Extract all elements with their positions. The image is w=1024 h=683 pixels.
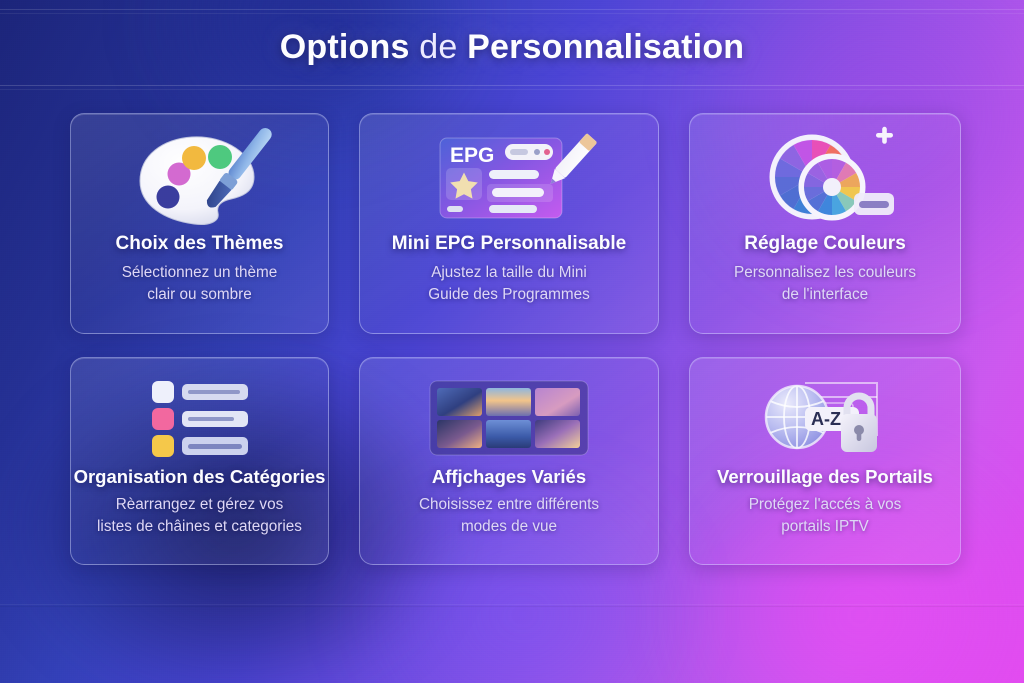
header: Options de Personnalisation xyxy=(0,0,1024,95)
card-title: Choix des Thèmes xyxy=(116,233,284,255)
feature-card-grid: Choix des Thèmes Sélectionnez un thème c… xyxy=(70,113,959,565)
palette-dot-amber xyxy=(182,146,206,170)
page-title: Options de Personnalisation xyxy=(280,28,745,67)
card-subtitle-line: modes de vue xyxy=(419,516,599,538)
card-title: Mini EPG Personnalisable xyxy=(392,233,626,255)
page-title-part-2: de xyxy=(419,28,457,66)
epg-card-pencil-icon: EPG xyxy=(372,127,646,231)
category-swatch-yellow xyxy=(152,435,174,457)
feature-card-portal-lock[interactable]: A-Z Verrouillage des Portails Protégez l… xyxy=(689,357,961,565)
card-subtitle-line: Guide des Programmes xyxy=(428,284,590,306)
lock-icon xyxy=(841,396,877,452)
palette-dot-green xyxy=(208,145,232,169)
feature-card-categories[interactable]: Organisation des Catégories Rèarrangez e… xyxy=(70,357,329,565)
card-subtitle-line: Ajustez la taille du Mini xyxy=(428,262,590,284)
card-subtitle: Choisissez entre différents modes de vue xyxy=(419,494,599,537)
category-swatch-pink xyxy=(152,408,174,430)
card-title: Réglage Couleurs xyxy=(744,233,906,255)
color-slider xyxy=(854,193,894,215)
card-subtitle: Personnalisez les couleurs de l'interfac… xyxy=(734,262,916,305)
card-subtitle: Rèarrangez et gérez vos listes de châine… xyxy=(97,494,302,537)
card-subtitle-line: Personnalisez les couleurs xyxy=(734,262,916,284)
card-title: Organisation des Catégories xyxy=(74,466,326,487)
category-swatch-white xyxy=(152,381,174,403)
feature-card-mini-epg[interactable]: EPG xyxy=(359,113,659,334)
card-subtitle-line: Choisissez entre différents xyxy=(419,494,599,516)
plus-icon xyxy=(876,127,893,144)
card-subtitle: Sélectionnez un thème clair ou sombre xyxy=(122,262,278,305)
palette-dot-navy xyxy=(156,186,179,209)
card-subtitle-line: listes de châines et categories xyxy=(97,516,302,538)
card-subtitle-line: clair ou sombre xyxy=(122,284,278,306)
card-title: Affjchages Variés xyxy=(432,466,586,487)
feature-card-themes[interactable]: Choix des Thèmes Sélectionnez un thème c… xyxy=(70,113,329,334)
card-title: Verrouillage des Portails xyxy=(717,466,933,487)
card-subtitle: Ajustez la taille du Mini Guide des Prog… xyxy=(428,262,590,305)
color-wheel-icon xyxy=(702,127,948,231)
card-subtitle-line: de l'interface xyxy=(734,284,916,306)
card-subtitle-line: Rèarrangez et gérez vos xyxy=(97,494,302,516)
card-subtitle-line: Sélectionnez un thème xyxy=(122,262,278,284)
globe-lock-icon: A-Z xyxy=(702,372,948,464)
thumbnail-grid-icon xyxy=(372,372,646,464)
page-title-part-1: Options xyxy=(280,28,410,66)
epg-icon-label: EPG xyxy=(450,144,494,167)
card-subtitle-line: Protégez l'accés à vos xyxy=(749,494,902,516)
card-subtitle: Protégez l'accés à vos portails IPTV xyxy=(749,494,902,537)
feature-card-views[interactable]: Affjchages Variés Choisissez entre diffé… xyxy=(359,357,659,565)
feature-card-colors[interactable]: Réglage Couleurs Personnalisez les coule… xyxy=(689,113,961,334)
page-title-part-3: Personnalisation xyxy=(467,28,744,66)
card-subtitle-line: portails IPTV xyxy=(749,516,902,538)
category-list-icon xyxy=(83,372,316,464)
palette-icon xyxy=(83,127,316,231)
az-badge-label: A-Z xyxy=(811,409,841,429)
